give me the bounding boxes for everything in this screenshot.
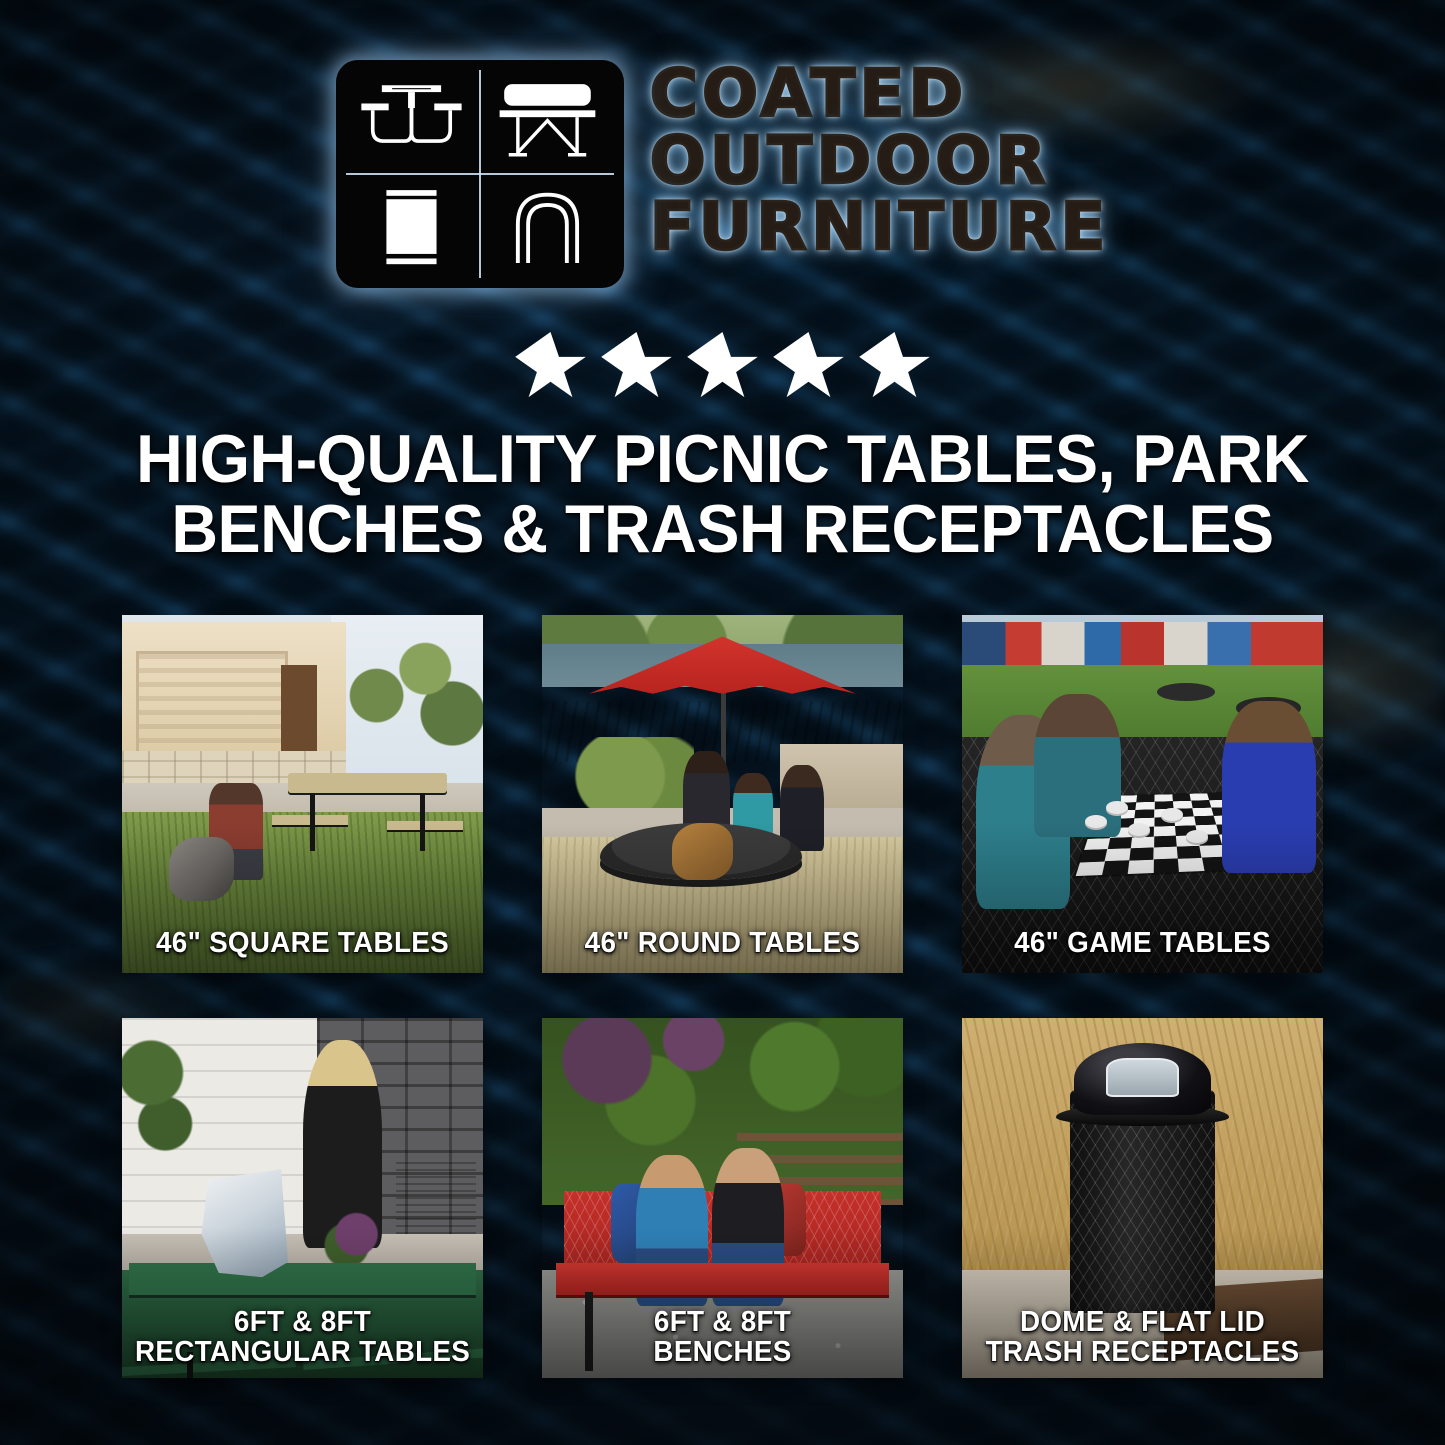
brand-logo: COATED OUTDOOR FURNITURE <box>0 60 1445 288</box>
product-card-round-tables[interactable]: 46" ROUND TABLES <box>542 615 903 973</box>
logo-line-1: COATED <box>650 62 1110 127</box>
product-caption: 46" GAME TABLES <box>975 928 1310 959</box>
logo-line-3: FURNITURE <box>650 195 1110 260</box>
caption-line-2: RECTANGULAR TABLES <box>135 1337 470 1368</box>
star-icon <box>859 332 931 402</box>
trash-receptacle-icon <box>344 174 480 280</box>
caption-line-1: 6FT & 8FT <box>135 1307 470 1338</box>
logo-wordmark: COATED OUTDOOR FURNITURE <box>650 60 1110 260</box>
caption-line-1: DOME & FLAT LID <box>975 1307 1310 1338</box>
product-card-benches[interactable]: 6FT & 8FT BENCHES <box>542 1018 903 1378</box>
star-icon <box>687 332 759 402</box>
caption-line-2: BENCHES <box>555 1337 890 1368</box>
promotional-poster: COATED OUTDOOR FURNITURE HIGH-QUALITY PI… <box>0 0 1445 1445</box>
headline: HIGH-QUALITY PICNIC TABLES, PARK BENCHES… <box>93 424 1352 564</box>
product-card-game-tables[interactable]: 46" GAME TABLES <box>962 615 1323 973</box>
picnic-table-side-icon <box>480 68 616 174</box>
product-caption: 6FT & 8FT RECTANGULAR TABLES <box>135 1307 470 1368</box>
product-card-trash-receptacles[interactable]: DOME & FLAT LID TRASH RECEPTACLES <box>962 1018 1323 1378</box>
product-grid: 46" SQUARE TABLES <box>122 615 1323 1378</box>
logo-mark <box>336 60 624 288</box>
star-rating <box>0 332 1445 402</box>
caption-line-1: 46" SQUARE TABLES <box>135 928 470 959</box>
product-photo-game-tables <box>962 615 1323 973</box>
caption-line-2: TRASH RECEPTACLES <box>975 1337 1310 1368</box>
product-photo-round-tables <box>542 615 903 973</box>
caption-line-1: 46" GAME TABLES <box>975 928 1310 959</box>
product-card-rectangular-tables[interactable]: 6FT & 8FT RECTANGULAR TABLES <box>122 1018 483 1378</box>
headline-line-1: HIGH-QUALITY PICNIC TABLES, PARK <box>93 424 1352 494</box>
product-caption: 6FT & 8FT BENCHES <box>555 1307 890 1368</box>
headline-line-2: BENCHES & TRASH RECEPTACLES <box>93 494 1352 564</box>
product-caption: DOME & FLAT LID TRASH RECEPTACLES <box>975 1307 1310 1368</box>
caption-line-1: 6FT & 8FT <box>555 1307 890 1338</box>
star-icon <box>601 332 673 402</box>
product-caption: 46" ROUND TABLES <box>555 928 890 959</box>
star-icon <box>515 332 587 402</box>
star-icon <box>773 332 845 402</box>
logo-line-2: OUTDOOR <box>650 129 1110 194</box>
bike-rack-arch-icon <box>480 174 616 280</box>
product-card-square-tables[interactable]: 46" SQUARE TABLES <box>122 615 483 973</box>
product-photo-square-tables <box>122 615 483 973</box>
product-caption: 46" SQUARE TABLES <box>135 928 470 959</box>
caption-line-1: 46" ROUND TABLES <box>555 928 890 959</box>
picnic-table-front-icon <box>344 68 480 174</box>
